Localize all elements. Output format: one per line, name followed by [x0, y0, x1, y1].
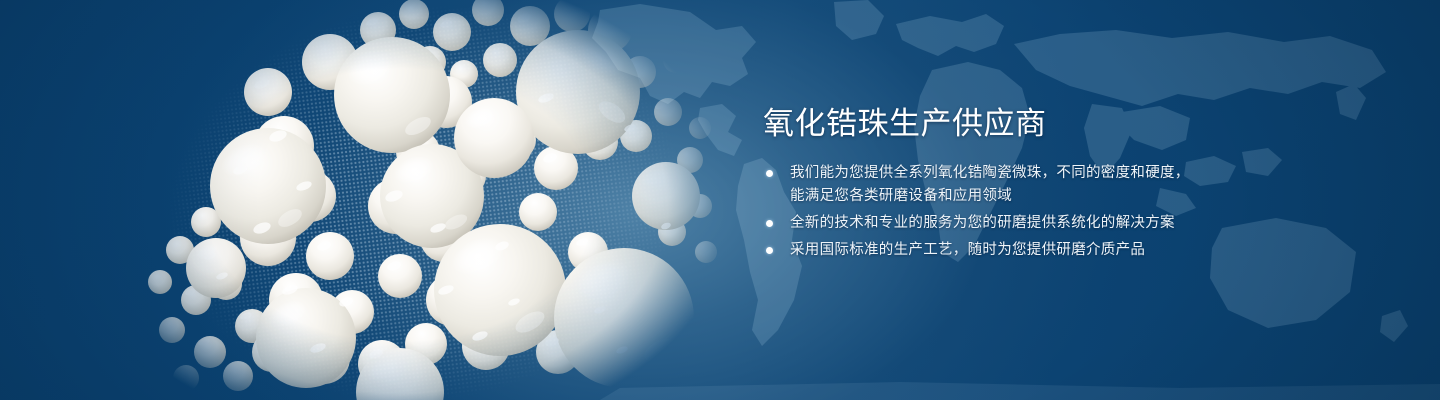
bullet-text-line2: 能满足您各类研磨设备和应用领域 [790, 185, 1233, 208]
bullet-dot-icon [766, 170, 773, 177]
banner-copy: 氧化锆珠生产供应商 我们能为您提供全系列氧化锆陶瓷微珠，不同的密度和硬度， 能满… [763, 104, 1233, 262]
bullet-dot-icon [766, 247, 773, 254]
list-item: 全新的技术和专业的服务为您的研磨提供系统化的解决方案 [763, 212, 1233, 235]
page-title: 氧化锆珠生产供应商 [763, 104, 1233, 144]
bullet-text-line1: 我们能为您提供全系列氧化锆陶瓷微珠，不同的密度和硬度， [790, 165, 1190, 181]
feature-list: 我们能为您提供全系列氧化锆陶瓷微珠，不同的密度和硬度， 能满足您各类研磨设备和应… [763, 162, 1233, 262]
list-item: 我们能为您提供全系列氧化锆陶瓷微珠，不同的密度和硬度， 能满足您各类研磨设备和应… [763, 162, 1233, 208]
hero-banner: 氧化锆珠生产供应商 我们能为您提供全系列氧化锆陶瓷微珠，不同的密度和硬度， 能满… [0, 0, 1440, 400]
bullet-dot-icon [766, 220, 773, 227]
bullet-text-line1: 全新的技术和专业的服务为您的研磨提供系统化的解决方案 [790, 215, 1175, 231]
list-item: 采用国际标准的生产工艺，随时为您提供研磨介质产品 [763, 239, 1233, 262]
bullet-text-line1: 采用国际标准的生产工艺，随时为您提供研磨介质产品 [790, 242, 1145, 258]
